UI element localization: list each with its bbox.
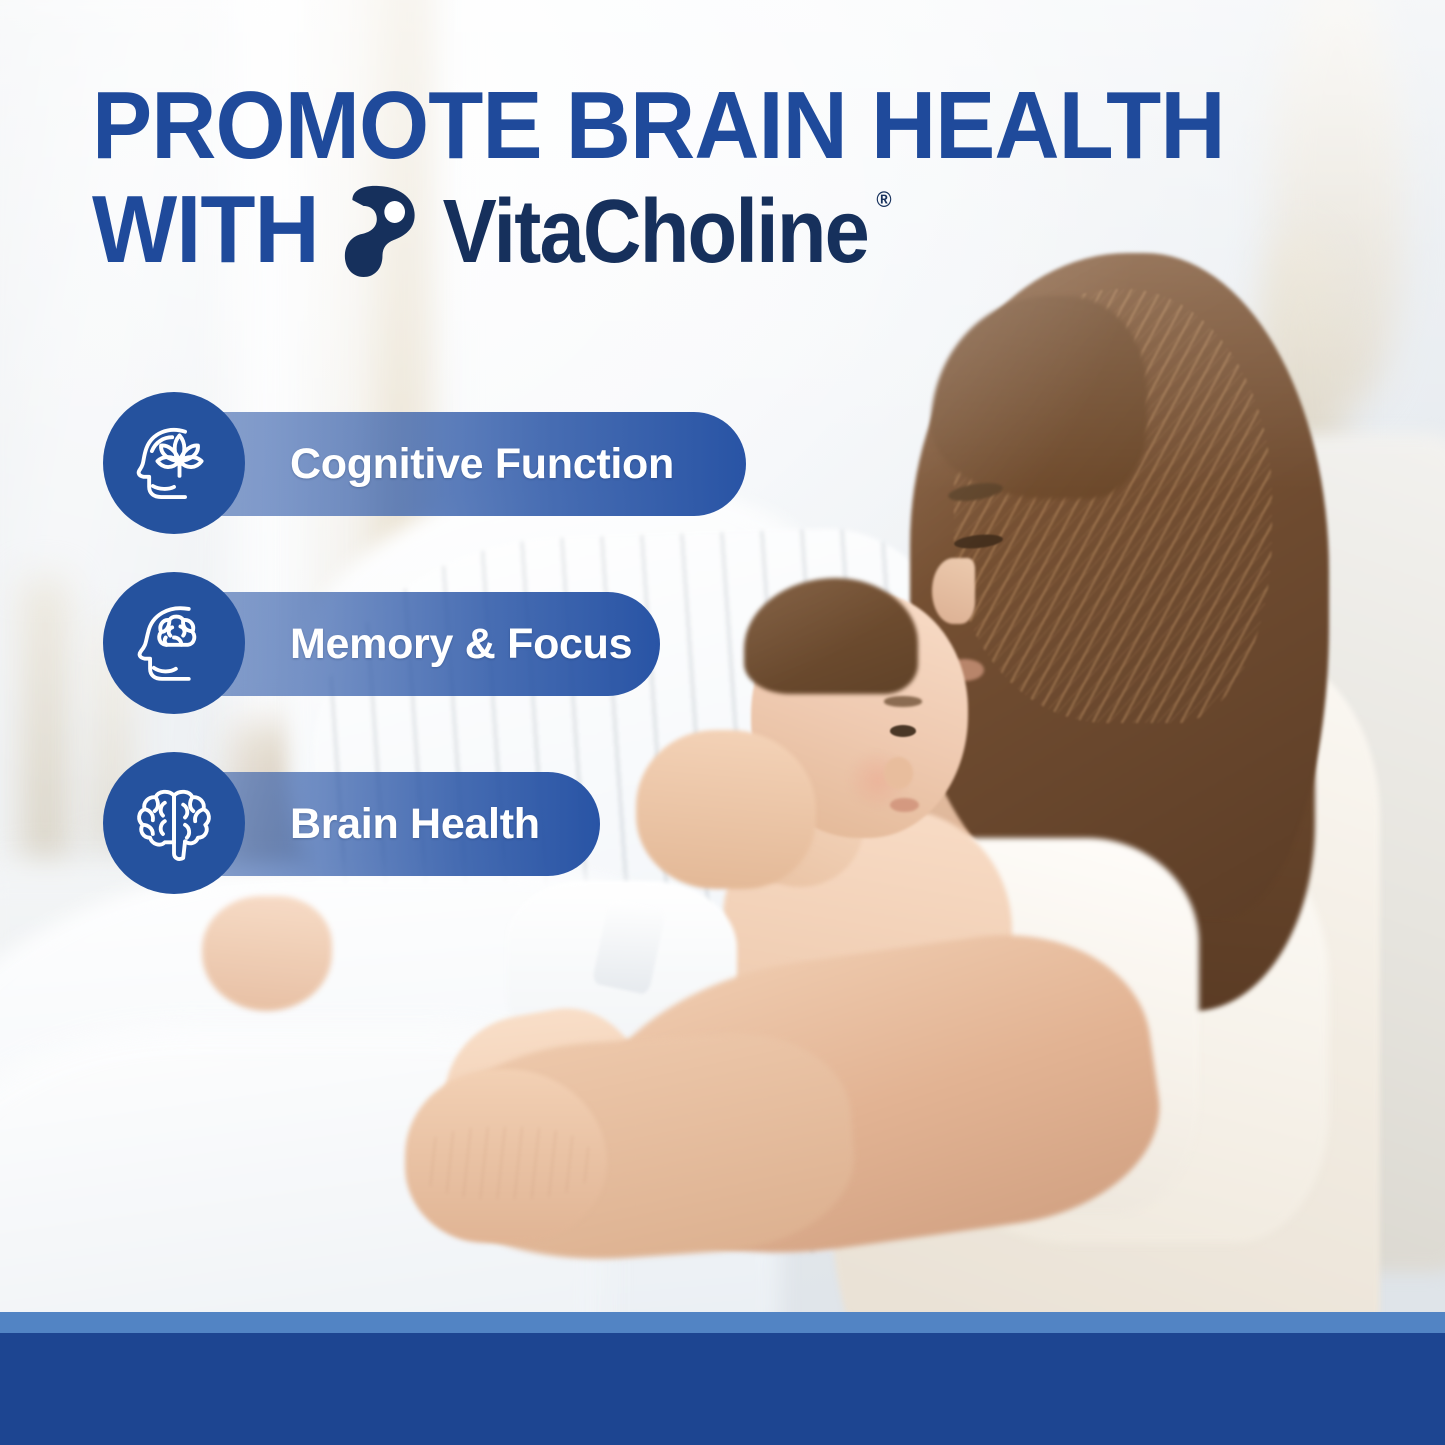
benefit-item-cognitive-function[interactable]: Cognitive Function	[0, 392, 1445, 537]
brain-icon	[103, 752, 245, 894]
registered-trademark-icon: ®	[877, 189, 892, 211]
promotional-banner: PROMOTE BRAIN HEALTH WITH VitaCholine® C…	[0, 0, 1445, 1445]
vitacholine-wordmark-text: VitaCholine	[443, 182, 868, 282]
headline-with-word: WITH	[92, 182, 319, 278]
benefit-label: Memory & Focus	[290, 620, 632, 669]
benefits-list: Cognitive Function	[0, 392, 1445, 932]
benefit-label: Cognitive Function	[290, 440, 674, 489]
headline-line-2: WITH VitaCholine®	[92, 182, 1305, 278]
vitacholine-logo: VitaCholine®	[343, 184, 886, 280]
vitacholine-wordmark: VitaCholine®	[443, 187, 868, 277]
vitacholine-droplet-logo-icon	[343, 184, 422, 280]
headline: PROMOTE BRAIN HEALTH WITH VitaCholine®	[92, 78, 1305, 278]
footer-light-bar	[0, 1312, 1445, 1333]
benefit-label: Brain Health	[290, 800, 540, 849]
head-with-brain-icon	[103, 572, 245, 714]
benefit-pill[interactable]: Memory & Focus	[172, 592, 660, 696]
benefit-item-memory-focus[interactable]: Memory & Focus	[0, 572, 1445, 717]
head-with-leaves-icon	[103, 392, 245, 534]
benefit-item-brain-health[interactable]: Brain Health	[0, 752, 1445, 897]
headline-line-1: PROMOTE BRAIN HEALTH	[92, 78, 1305, 174]
footer-dark-bar	[0, 1333, 1445, 1445]
benefit-pill[interactable]: Cognitive Function	[172, 412, 746, 516]
